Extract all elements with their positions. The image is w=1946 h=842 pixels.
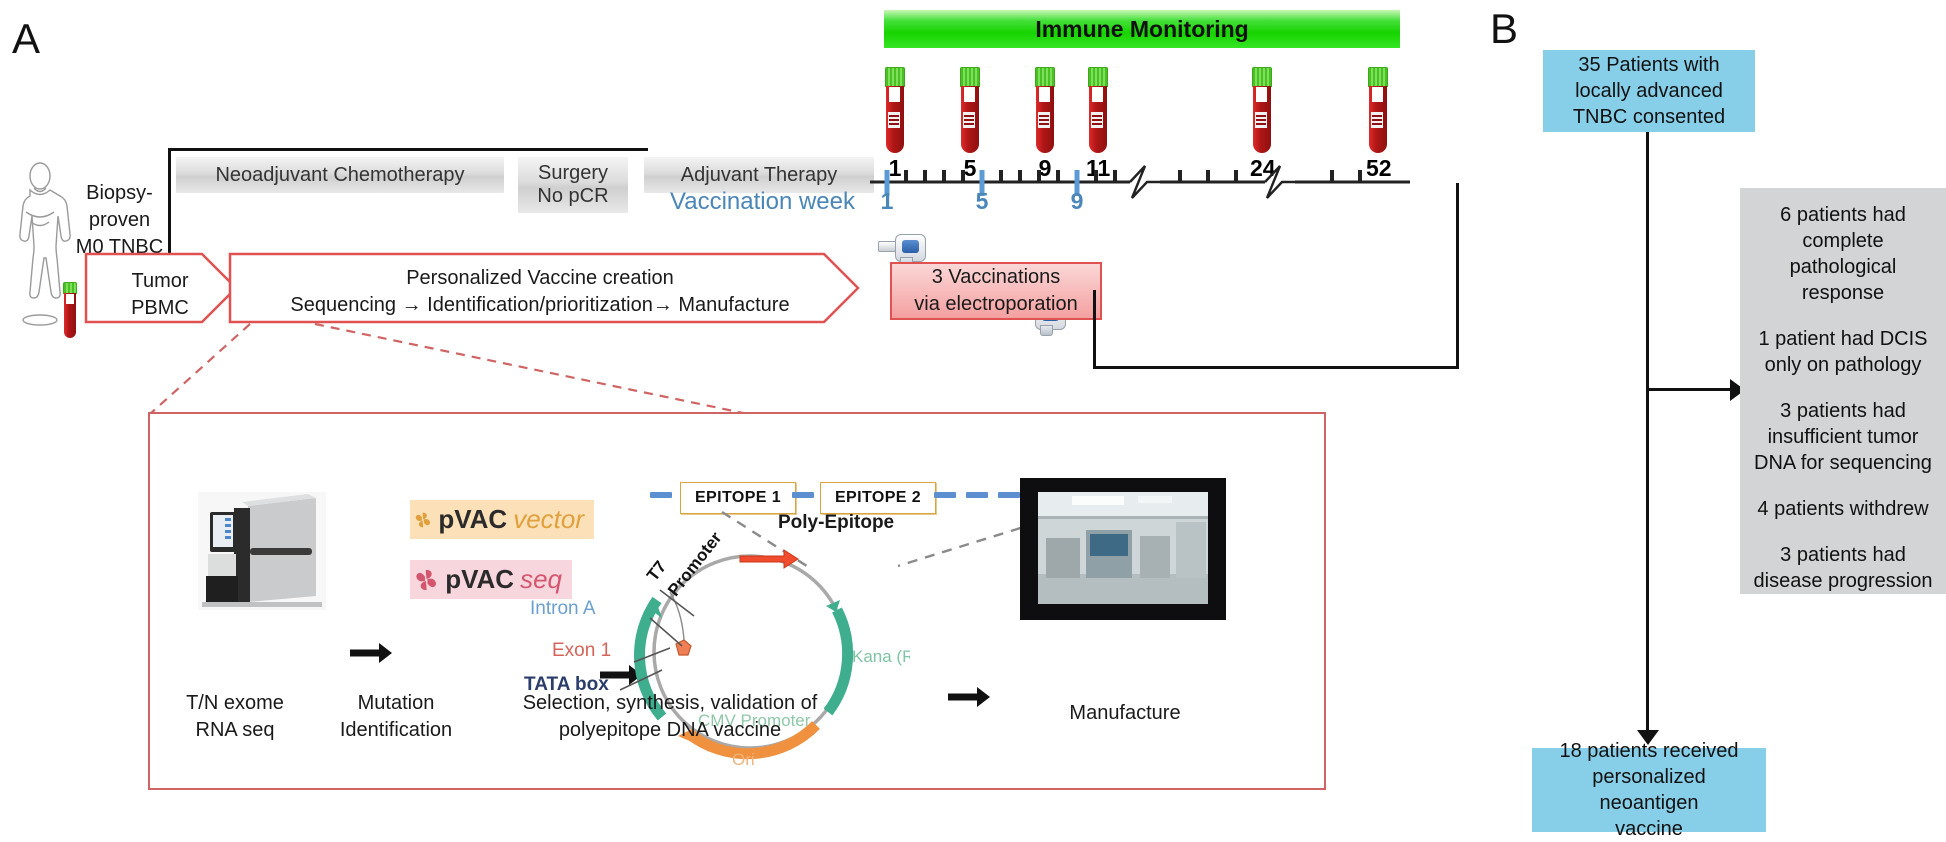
plasmid-label-ori: Ori bbox=[732, 750, 755, 769]
epitope-linker-1-icon bbox=[650, 492, 672, 498]
exclusion-item: 3 patients had disease progression bbox=[1750, 542, 1936, 594]
return-loop-vertical-left bbox=[1093, 290, 1096, 369]
plasmid-label-exon1: Exon 1 bbox=[552, 640, 611, 662]
phase-surgery-no-pcr: Surgery No pCR bbox=[518, 157, 628, 213]
creation-line-1: Personalized Vaccine creation bbox=[240, 265, 840, 292]
flowchart-branch-line bbox=[1646, 388, 1730, 391]
consented-line-3: TNBC consented bbox=[1573, 104, 1725, 130]
biopsy-proven-label: Biopsy- proven M0 TNBC bbox=[72, 180, 167, 261]
pvac-seq-logo: pVAC seq bbox=[410, 560, 572, 599]
pvac-clover-icon bbox=[414, 565, 439, 595]
pvac-seq-italic: seq bbox=[520, 564, 562, 595]
biopsy-line-2: proven bbox=[72, 207, 167, 234]
exclusion-item: 3 patients had insufficient tumor DNA fo… bbox=[1750, 398, 1936, 476]
plasmid-label-kana: Kana (R) bbox=[852, 647, 910, 666]
sequencer-image bbox=[198, 492, 326, 610]
phase-neoadjuvant-chemotherapy: Neoadjuvant Chemotherapy bbox=[176, 157, 504, 193]
caption-exome: T/N exome RNA seq bbox=[162, 690, 308, 744]
return-loop-vertical-right bbox=[1456, 183, 1459, 369]
vaccination-week-label: Vaccination week bbox=[670, 188, 855, 216]
vaccination-week-1: 1 bbox=[872, 188, 902, 215]
epitope-linker-4-icon bbox=[966, 492, 988, 498]
vaccination-week-9: 9 bbox=[1062, 188, 1092, 215]
consented-line-1: 35 Patients with bbox=[1578, 52, 1719, 78]
epitope-linker-3-icon bbox=[934, 492, 956, 498]
consented-patients-box: 35 Patients with locally advanced TNBC c… bbox=[1543, 50, 1755, 132]
biopsy-line-1: Biopsy- bbox=[72, 180, 167, 207]
phase-bracket-horizontal bbox=[168, 148, 648, 151]
panel-b-letter: B bbox=[1490, 8, 1518, 50]
epitope-linker-2-icon bbox=[792, 492, 814, 498]
timeline-axis bbox=[870, 160, 1460, 200]
caption-exome-line-1: T/N exome bbox=[162, 690, 308, 717]
caption-manufacture: Manufacture bbox=[1040, 700, 1210, 727]
epitope-linker-5-icon bbox=[998, 492, 1020, 498]
return-loop-horizontal bbox=[1093, 366, 1459, 369]
pvac-clover-icon bbox=[414, 505, 432, 535]
pvac-vector-italic: vector bbox=[513, 504, 584, 535]
flow-arrow-3-icon bbox=[948, 686, 990, 708]
process-source-line-1: Tumor bbox=[100, 268, 220, 295]
flowchart-trunk-line bbox=[1646, 132, 1649, 732]
vaccination-box: 3 Vaccinations via electroporation bbox=[890, 262, 1102, 320]
flow-arrow-1-icon bbox=[350, 642, 392, 664]
vaccinated-line-2: personalized neoantigen bbox=[1542, 764, 1756, 816]
caption-selection-line-1: Selection, synthesis, validation of bbox=[480, 690, 860, 717]
caption-mutation-line-1: Mutation bbox=[316, 690, 476, 717]
process-vaccine-creation-label: Personalized Vaccine creation Sequencing… bbox=[240, 265, 840, 319]
vaccinated-patients-box: 18 patients received personalized neoant… bbox=[1532, 748, 1766, 832]
process-tumor-pbmc-label: Tumor PBMC bbox=[100, 268, 220, 322]
patient-blood-tube-icon bbox=[62, 282, 78, 338]
panel-a-letter: A bbox=[12, 18, 40, 60]
phase-surgery-line-2: No pCR bbox=[537, 185, 608, 208]
electroporation-device-icon-1 bbox=[878, 232, 924, 266]
plasmid-label-intron-a: Intron A bbox=[530, 598, 596, 620]
vaccination-line-1: 3 Vaccinations bbox=[932, 264, 1061, 291]
vaccinated-line-1: 18 patients received bbox=[1559, 738, 1738, 764]
creation-line-2: Sequencing → Identification/prioritizati… bbox=[240, 292, 840, 319]
caption-exome-line-2: RNA seq bbox=[162, 717, 308, 744]
caption-mutation: Mutation Identification bbox=[316, 690, 476, 744]
exclusions-box: 6 patients had complete pathological res… bbox=[1740, 188, 1946, 594]
phase-surgery-line-1: Surgery bbox=[538, 162, 608, 185]
exclusion-item: 6 patients had complete pathological res… bbox=[1750, 202, 1936, 306]
manufacture-facility-image bbox=[1020, 478, 1226, 620]
vaccination-line-2: via electroporation bbox=[914, 291, 1077, 318]
immune-monitoring-bar: Immune Monitoring bbox=[884, 10, 1400, 48]
exclusion-item: 1 patient had DCIS only on pathology bbox=[1750, 326, 1936, 378]
pvac-seq-bold: pVAC bbox=[445, 564, 514, 595]
consented-line-2: locally advanced bbox=[1575, 78, 1723, 104]
caption-selection: Selection, synthesis, validation of poly… bbox=[480, 690, 860, 744]
pvac-vector-logo: pVAC vector bbox=[410, 500, 594, 539]
exclusion-item: 4 patients withdrew bbox=[1750, 496, 1936, 522]
vaccination-week-5: 5 bbox=[967, 188, 997, 215]
caption-selection-line-2: polyepitope DNA vaccine bbox=[480, 717, 860, 744]
vaccinated-line-3: vaccine bbox=[1615, 816, 1683, 842]
pvac-vector-bold: pVAC bbox=[438, 504, 507, 535]
caption-mutation-line-2: Identification bbox=[316, 717, 476, 744]
